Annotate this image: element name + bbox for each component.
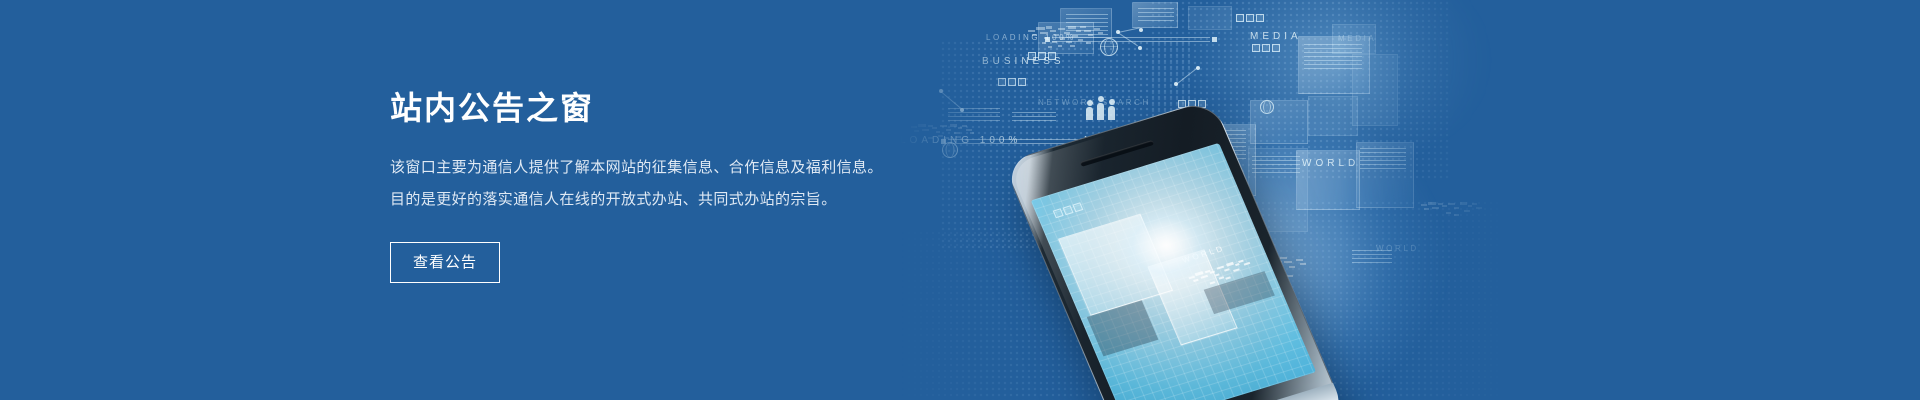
chip-triplet-icon [1252, 44, 1280, 52]
micro-text-block [1360, 148, 1406, 172]
label-loading-top: LOADING 100% [986, 33, 1076, 42]
network-node-graph [936, 86, 982, 120]
label-media-top: MEDIA [1250, 31, 1302, 42]
announcement-banner: LOADING 100% MEDIA LOADING 100% MEDIA BU… [0, 0, 1920, 400]
description-line-1: 该窗口主要为通信人提供了解本网站的征集信息、合作信息及福利信息。 [390, 152, 910, 184]
network-node-graph [1112, 26, 1162, 60]
label-loading-mid: LOADING 100% [900, 135, 1021, 146]
label-network-search: NETWORK SEARCH [1038, 98, 1151, 107]
micro-text-block [1012, 112, 1056, 124]
micro-text-block [1138, 8, 1174, 24]
hero-tech-image: LOADING 100% MEDIA LOADING 100% MEDIA BU… [900, 0, 1520, 400]
label-world-small: WORLD [1376, 244, 1419, 253]
micro-text-block [1252, 156, 1300, 176]
floating-panel [1188, 6, 1232, 30]
view-announcements-button[interactable]: 查看公告 [390, 242, 500, 283]
page-title: 站内公告之窗 [390, 88, 910, 128]
label-world-right: WORLD [1302, 158, 1359, 169]
chip-triplet-icon [998, 78, 1026, 86]
network-node-graph [1172, 62, 1222, 94]
banner-description: 该窗口主要为通信人提供了解本网站的征集信息、合作信息及福利信息。 目的是更好的落… [390, 152, 910, 216]
banner-copy-block: 站内公告之窗 该窗口主要为通信人提供了解本网站的征集信息、合作信息及福利信息。 … [390, 88, 910, 283]
description-line-2: 目的是更好的落实通信人在线的开放式办站、共同式办站的宗旨。 [390, 184, 910, 216]
world-map-icon [1418, 196, 1488, 222]
label-media-right: MEDIA [1338, 34, 1376, 43]
micro-text-block [1304, 44, 1362, 72]
chip-triplet-icon [1236, 14, 1264, 22]
globe-icon [1260, 100, 1274, 114]
label-business: BUSINESS [982, 56, 1065, 67]
floating-panel [1250, 100, 1308, 144]
floating-panel [1308, 96, 1358, 136]
